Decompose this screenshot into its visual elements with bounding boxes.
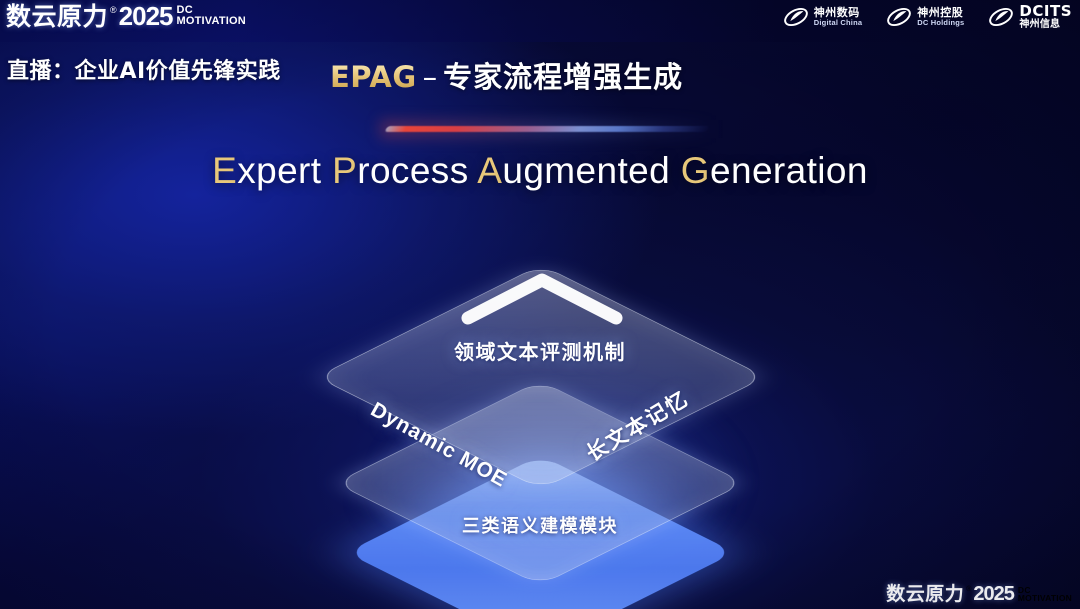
diagram-layer-bottom-label: 三类语义建模模块 [0, 512, 1080, 538]
slide-canvas: 数云原力 ® 2025 DC MOTIVATION 直播：企业AI价值先锋实践 … [0, 0, 1080, 609]
brand-logo-motivation-text: MOTIVATION [1018, 594, 1072, 603]
chevron-up-icon [458, 268, 626, 328]
brand-logo-watermark: 数云原力 ® 2025 DC MOTIVATION [886, 584, 1072, 605]
brand-logo-dc-motivation: DC MOTIVATION [1018, 586, 1072, 603]
brand-logo-year: 2025 [973, 584, 1014, 605]
brand-logo-registered-mark: ® [966, 586, 971, 594]
brand-logo-chinese: 数云原力 [886, 584, 964, 605]
layer-stack-diagram: 领域文本评测机制 Dynamic MOE 长文本记忆 三类语义建模模块 [0, 0, 1080, 609]
diagram-layer-top-label: 领域文本评测机制 [0, 336, 1080, 365]
